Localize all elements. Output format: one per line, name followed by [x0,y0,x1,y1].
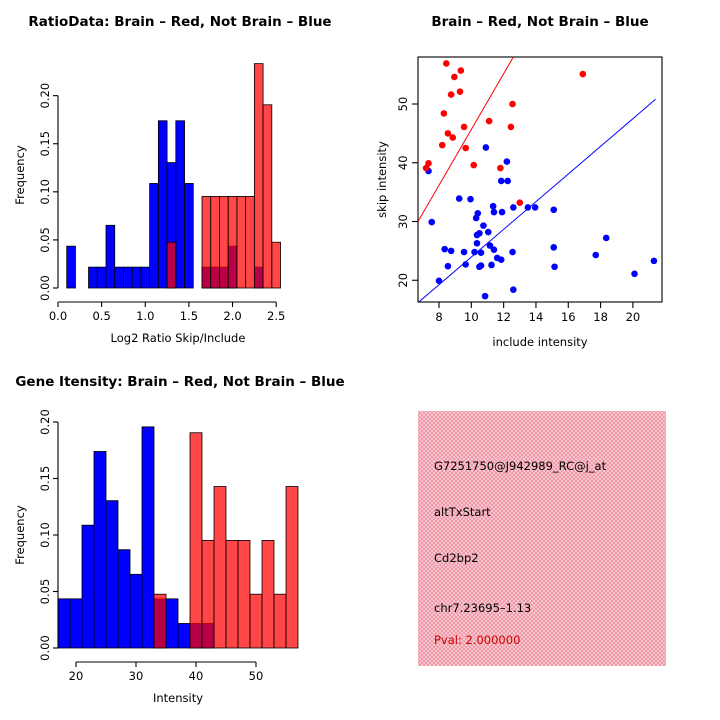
hist-bar-brain [202,196,211,288]
scatter-point [462,145,469,152]
scatter-point [494,255,501,262]
x-tick-label: 1.0 [136,309,154,323]
scatter-point [486,118,493,125]
scatter-point [461,124,468,131]
hist-bar-brain [246,196,255,288]
y-tick-label: 0.10 [38,179,52,205]
hist-bar-brain [250,594,262,648]
scatter-point [509,101,516,108]
hist-bar-not-brain [82,525,94,648]
x-axis-title: Intensity [153,691,203,705]
hist-bar-not-brain [158,121,167,288]
scatter-point [478,249,485,256]
histogram-group: 0.000.050.100.150.20Frequency20304050Int… [13,409,298,705]
scatter-point [550,244,557,251]
y-tick-label: 40 [396,155,410,170]
scatter-point [451,74,458,81]
hist-bar-brain [190,433,202,648]
scatter-point [457,88,464,95]
y-tick-label: 0.00 [38,635,52,661]
scatter-point [497,165,504,172]
y-tick-label: 0.20 [38,409,52,435]
scatter-point [509,249,516,256]
scatter-group: 20304050skip intensity8101214161820inclu… [375,57,662,349]
hist-bar-not-brain [118,550,130,648]
scatter-point [428,219,435,226]
hist-bar-brain [219,196,228,288]
x-axis-title: include intensity [492,335,587,349]
scatter-point [510,286,517,293]
y-tick-label: 0.05 [38,227,52,253]
scatter-point [510,204,517,211]
panel-intensity-scatter: Brain – Red, Not Brain – Blue 20304050sk… [360,0,720,360]
x-tick-label: 30 [129,669,144,683]
hist-bar-brain [211,196,220,288]
scatter-point [461,249,468,256]
x-tick-label: 2.0 [223,309,241,323]
hist-bar-not-brain [89,267,98,288]
hist-bar-brain [228,196,237,288]
scatter-point [448,91,455,98]
y-tick-label: 0.05 [38,579,52,605]
coordinates-text: chr7.23695–1.13 [434,601,531,615]
scatter-point [499,209,506,216]
scatter-plot: 20304050skip intensity8101214161820inclu… [360,0,720,360]
histogram-group: 0.000.050.100.150.20Frequency0.00.51.01.… [13,64,285,345]
hist-bar-not-brain [106,225,115,288]
x-tick-label: 14 [529,310,544,324]
hist-bar-brain [202,540,214,648]
gene-info-box: G7251750@J942989_RC@j_at altTxStart Cd2b… [418,411,666,666]
x-tick-label: 8 [435,310,442,324]
y-tick-label: 20 [396,273,410,288]
x-tick-label: 40 [189,669,204,683]
panel-ratio-histogram: RatioData: Brain – Red, Not Brain – Blue… [0,0,360,360]
plot-area [418,57,657,302]
scatter-point [443,60,450,67]
x-tick-label: 16 [561,310,576,324]
hist-bar-brain [262,540,274,648]
scatter-point [467,196,474,203]
scatter-point [508,124,515,131]
scatter-point [490,203,497,210]
scatter-point [651,258,658,265]
scatter-point [551,263,558,270]
scatter-point [470,162,477,169]
scatter-point [491,209,498,216]
y-tick-label: 0.15 [38,466,52,492]
y-tick-label: 0.10 [38,522,52,548]
hist-bar-brain [274,594,286,648]
scatter-point [483,144,490,151]
hist-bar-not-brain [176,121,185,288]
x-tick-label: 0.5 [92,309,110,323]
scatter-point [525,204,532,211]
y-tick-label: 30 [396,214,410,229]
plot-frame [418,57,662,302]
scatter-point [580,71,587,78]
scatter-point [498,178,505,185]
y-axis-title: skip intensity [375,141,389,218]
hist-bar-not-brain [97,267,106,288]
hist-bar-not-brain [123,267,132,288]
x-tick-label: 10 [464,310,479,324]
hist-bar-not-brain [185,183,194,288]
scatter-point [473,215,480,222]
x-tick-label: 0.0 [49,309,67,323]
scatter-point [445,263,452,270]
probe-id-text: G7251750@J942989_RC@j_at [434,459,606,473]
x-tick-label: 20 [69,669,84,683]
scatter-point [504,158,511,165]
scatter-point [631,270,638,277]
panel-gene-intensity-histogram: Gene Itensity: Brain – Red, Not Brain – … [0,360,360,720]
hist-bar-brain [214,487,226,648]
pval-text: Pval: 2.000000 [434,633,520,647]
hist-bar-not-brain [70,599,82,648]
y-tick-label: 0.00 [38,275,52,301]
gene-symbol-text: Cd2bp2 [434,551,479,565]
scatter-point [462,261,469,268]
scatter-point [474,240,481,247]
hist-bar-brain [286,487,298,648]
hist-bar-not-brain [132,267,141,288]
event-type-text: altTxStart [434,505,491,519]
ratio-histogram-plot: 0.000.050.100.150.20Frequency0.00.51.01.… [0,0,360,360]
hist-bar-brain [254,64,263,288]
red-reference-line [418,57,513,222]
y-tick-label: 0.20 [38,83,52,109]
hist-bar-not-brain [130,574,142,648]
hist-bar-not-brain [94,451,106,648]
hist-bar-brain [167,242,176,288]
scatter-point [448,248,455,255]
scatter-point [458,67,465,74]
x-tick-label: 2.5 [267,309,285,323]
hist-bar-not-brain [106,501,118,648]
scatter-point [449,134,456,141]
hist-bar-brain [272,242,281,288]
scatter-point [423,165,430,172]
x-tick-label: 18 [593,310,608,324]
scatter-point [478,262,485,269]
hist-bar-brain [154,594,166,648]
x-tick-label: 50 [249,669,264,683]
scatter-point [592,252,599,259]
hist-bar-brain [238,540,250,648]
x-tick-label: 1.5 [180,309,198,323]
scatter-point [441,110,448,117]
scatter-point [456,195,463,202]
y-axis-title: Frequency [13,505,27,565]
y-axis-title: Frequency [13,145,27,205]
hist-bar-not-brain [67,246,76,288]
hist-bar-not-brain [178,623,190,648]
hist-bar-not-brain [150,183,159,288]
scatter-point [471,249,478,256]
hist-bar-brain [226,540,238,648]
hist-bar-not-brain [166,599,178,648]
hist-bar-not-brain [115,267,124,288]
gene-intensity-histogram-plot: 0.000.050.100.150.20Frequency20304050Int… [0,360,360,720]
figure-canvas: RatioData: Brain – Red, Not Brain – Blue… [0,0,720,720]
blue-reference-line [419,99,656,302]
scatter-point [439,142,446,149]
scatter-point [480,222,487,229]
scatter-point [488,262,495,269]
scatter-point [441,246,448,253]
scatter-point [491,246,498,253]
scatter-point [474,232,481,239]
scatter-point [517,199,524,206]
scatter-point [603,235,610,242]
hist-bar-not-brain [58,599,70,648]
y-tick-label: 50 [396,97,410,112]
scatter-point [550,206,557,213]
hist-bar-not-brain [142,427,154,648]
hist-bar-brain [237,196,246,288]
scatter-point [504,178,511,185]
scatter-point [532,204,539,211]
panel-gene-info: G7251750@J942989_RC@j_at altTxStart Cd2b… [360,360,720,720]
scatter-point [436,278,443,285]
y-tick-label: 0.15 [38,131,52,157]
scatter-point [482,293,489,300]
x-tick-label: 12 [496,310,511,324]
hist-bar-not-brain [141,267,150,288]
x-axis-title: Log2 Ratio Skip/Include [111,331,246,345]
x-tick-label: 20 [626,310,641,324]
scatter-point [485,229,492,236]
hist-bar-brain [263,105,272,288]
